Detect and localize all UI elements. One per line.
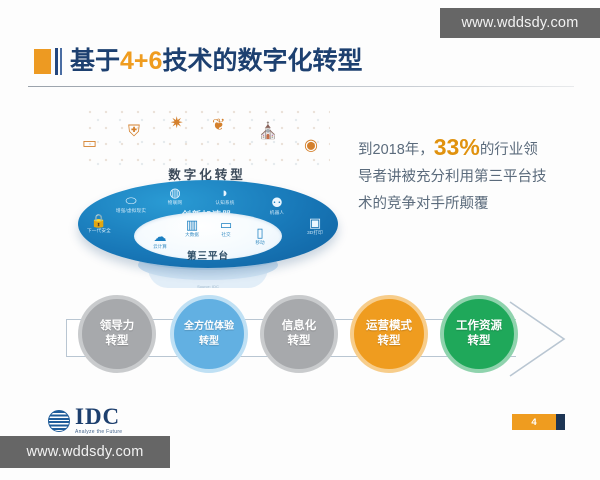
statistic-value: 33% bbox=[434, 134, 480, 160]
big-data-icon: ▥ 大数据 bbox=[174, 218, 210, 238]
pillar-leadership[interactable]: 领导力 转型 bbox=[78, 295, 156, 373]
plant-growth-icon: ❦ bbox=[212, 118, 225, 134]
3d-printing-icon: ▣ 3D打印 bbox=[292, 216, 338, 236]
pillar-work-resources[interactable]: 工作资源 转型 bbox=[440, 295, 518, 373]
title-orange-square bbox=[34, 49, 51, 74]
pillar-informatization[interactable]: 信息化 转型 bbox=[260, 295, 338, 373]
title-blue-bar-1 bbox=[55, 48, 58, 75]
idc-logo: IDC Analyze the Future bbox=[48, 406, 122, 435]
pillar-operating-model[interactable]: 运营模式 转型 bbox=[350, 295, 428, 373]
title-suffix: 技术的数字化转型 bbox=[162, 47, 362, 75]
gear-icon: ✷ bbox=[170, 116, 183, 132]
cognitive-systems-icon: ◗ 认知系统 bbox=[202, 186, 248, 206]
page-title: 基于4+6技术的数字化转型 bbox=[70, 48, 362, 75]
diagram-source-caption: Source: IDC bbox=[168, 284, 248, 289]
slide-title: 基于4+6技术的数字化转型 bbox=[34, 44, 362, 78]
title-divider bbox=[28, 86, 574, 87]
watermark-top: www.wddsdy.com bbox=[440, 8, 600, 38]
third-platform-icons: ☁ 云计算 ▥ 大数据 ▭ 社交 ▯ 移动 bbox=[134, 212, 282, 252]
logo-tagline: Analyze the Future bbox=[75, 429, 122, 435]
slide-canvas: 基于4+6技术的数字化转型 到2018年，33%的行业领导者讲被充分利用第三平台… bbox=[0, 0, 600, 480]
bank-icon: ⛪ bbox=[258, 124, 278, 140]
ar-vr-icon: ⬭ 增强/虚拟现实 bbox=[108, 194, 154, 214]
logo-text-block: IDC Analyze the Future bbox=[75, 406, 122, 435]
transformation-pillars: 领导力 转型 全方位体验 转型 信息化 转型 运营模式 转型 工作资源 转型 bbox=[60, 295, 540, 385]
pillar-omni-experience[interactable]: 全方位体验 转型 bbox=[170, 295, 248, 373]
digital-transformation-diagram: ▭ ⛨ ✷ ❦ ⛪ ◉ 数字化转型 🔒 下一代安全 ⬭ 增强/虚拟现实 ◍ 物联… bbox=[72, 108, 344, 293]
industry-icon-row: ▭ ⛨ ✷ ❦ ⛪ ◉ bbox=[82, 116, 334, 162]
watermark-bottom: www.wddsdy.com bbox=[0, 436, 170, 468]
page-number-tab bbox=[556, 414, 565, 430]
statistic-paragraph: 到2018年，33%的行业领导者讲被充分利用第三平台技术的竞争对手所颠覆 bbox=[358, 134, 548, 218]
iot-icon: ◍ 物联网 bbox=[152, 186, 198, 206]
mobile-icon: ▯ 移动 bbox=[242, 226, 278, 246]
page-number: 4 bbox=[512, 414, 556, 430]
shopping-bag-icon: ⛨ bbox=[128, 124, 140, 140]
title-accent: 4+6 bbox=[120, 47, 162, 75]
cloud-icon: ☁ 云计算 bbox=[142, 230, 178, 250]
title-prefix: 基于 bbox=[70, 47, 120, 75]
logo-name: IDC bbox=[75, 406, 122, 428]
next-gen-security-icon: 🔒 下一代安全 bbox=[76, 214, 122, 234]
social-icon: ▭ 社交 bbox=[208, 218, 244, 238]
title-blue-bar-2 bbox=[60, 48, 62, 75]
paragraph-lead: 到2018年， bbox=[358, 142, 434, 158]
third-platform-label: 第三平台 bbox=[168, 248, 248, 262]
monitor-pulse-icon: ▭ bbox=[82, 136, 97, 152]
globe-icon bbox=[48, 410, 70, 432]
circuit-icon: ◉ bbox=[304, 138, 318, 154]
